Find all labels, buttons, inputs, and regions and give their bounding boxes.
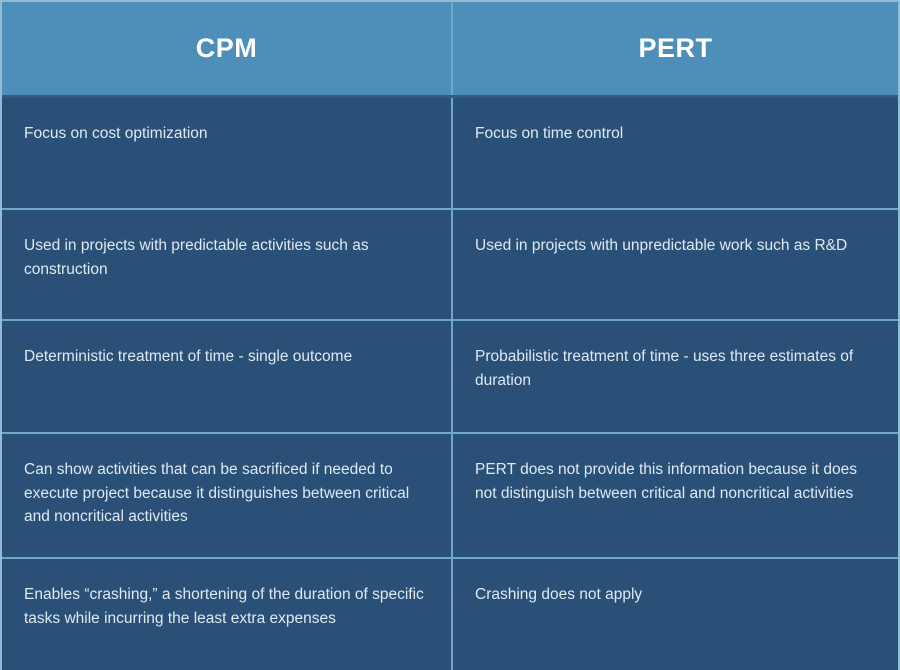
- cell-text: Probabilistic treatment of time - uses t…: [475, 345, 874, 392]
- cell-text: Used in projects with unpredictable work…: [475, 234, 874, 258]
- cpm-pert-comparison-table: CPM PERT Focus on cost optimization Focu…: [0, 0, 900, 670]
- column-header-pert: PERT: [451, 2, 898, 95]
- cell-text: Deterministic treatment of time - single…: [24, 345, 427, 369]
- cell-cpm-row-2: Used in projects with predictable activi…: [2, 210, 451, 319]
- cell-cpm-row-5: Enables “crashing,” a shortening of the …: [2, 559, 451, 670]
- cell-cpm-row-1: Focus on cost optimization: [2, 98, 451, 208]
- cell-pert-row-2: Used in projects with unpredictable work…: [451, 210, 898, 319]
- cell-pert-row-4: PERT does not provide this information b…: [451, 434, 898, 557]
- table-header-row: CPM PERT: [2, 2, 898, 98]
- cell-cpm-row-3: Deterministic treatment of time - single…: [2, 321, 451, 432]
- cell-text: Focus on cost optimization: [24, 122, 427, 146]
- cell-cpm-row-4: Can show activities that can be sacrific…: [2, 434, 451, 557]
- table-row: Deterministic treatment of time - single…: [2, 321, 898, 434]
- cell-text: Can show activities that can be sacrific…: [24, 458, 427, 529]
- table-row: Used in projects with predictable activi…: [2, 210, 898, 321]
- cell-text: Enables “crashing,” a shortening of the …: [24, 583, 427, 630]
- cell-text: Focus on time control: [475, 122, 874, 146]
- column-header-cpm: CPM: [2, 2, 451, 95]
- table-body: Focus on cost optimization Focus on time…: [2, 98, 898, 670]
- cell-pert-row-3: Probabilistic treatment of time - uses t…: [451, 321, 898, 432]
- cell-pert-row-5: Crashing does not apply: [451, 559, 898, 670]
- cell-text: Used in projects with predictable activi…: [24, 234, 427, 281]
- table-row: Focus on cost optimization Focus on time…: [2, 98, 898, 210]
- table-row: Enables “crashing,” a shortening of the …: [2, 559, 898, 670]
- column-header-pert-label: PERT: [638, 35, 712, 62]
- cell-pert-row-1: Focus on time control: [451, 98, 898, 208]
- column-header-cpm-label: CPM: [196, 35, 258, 62]
- cell-text: PERT does not provide this information b…: [475, 458, 874, 505]
- table-row: Can show activities that can be sacrific…: [2, 434, 898, 559]
- cell-text: Crashing does not apply: [475, 583, 874, 607]
